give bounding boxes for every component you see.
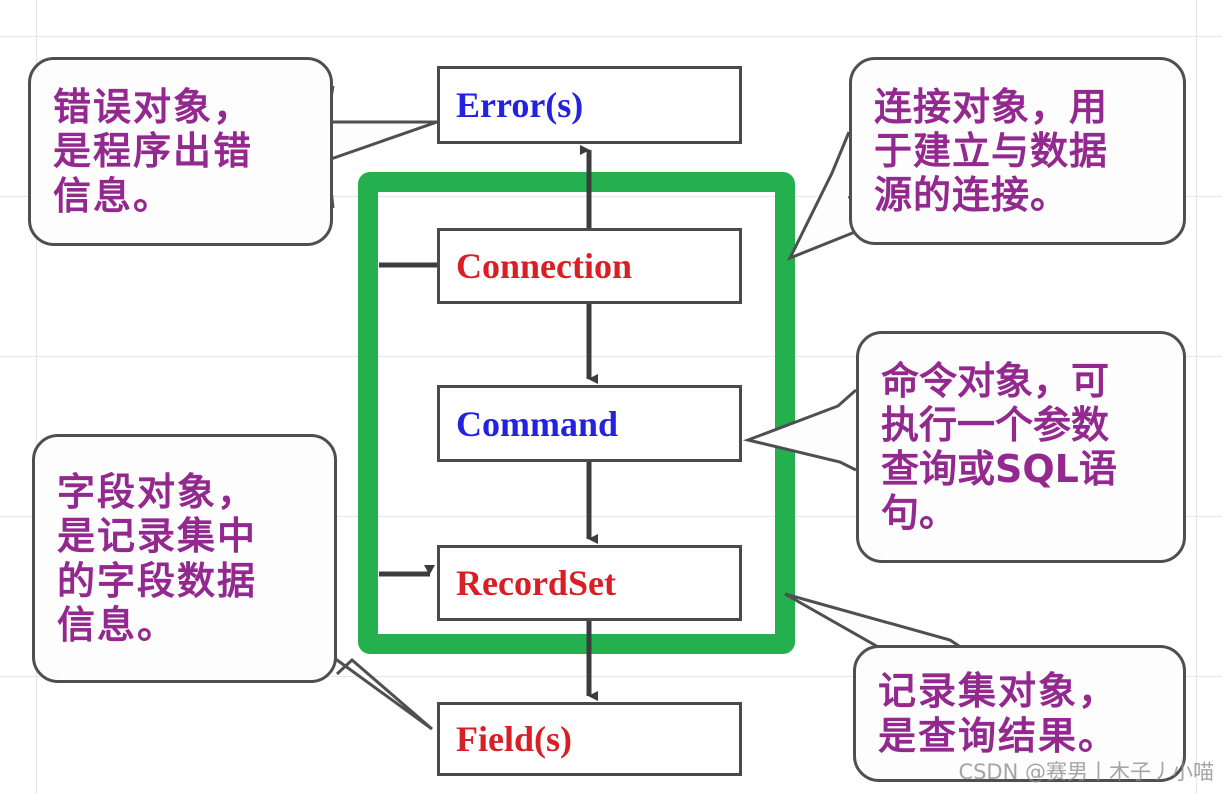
callout-connection-line-3: 源的连接。 bbox=[874, 173, 1167, 217]
callout-error[interactable]: 错误对象， 是程序出错 信息。 bbox=[28, 57, 333, 246]
callout-error-line-2: 是程序出错 bbox=[53, 129, 314, 173]
callout-command-line-1: 命令对象，可 bbox=[881, 359, 1167, 403]
callout-recordset-line-2: 是查询结果。 bbox=[878, 714, 1167, 758]
callout-field-line-1: 字段对象， bbox=[57, 470, 318, 514]
node-connection-label: Connection bbox=[440, 248, 632, 284]
node-field[interactable]: Field(s) bbox=[437, 702, 742, 776]
node-error-label: Error(s) bbox=[440, 87, 583, 123]
callout-field[interactable]: 字段对象， 是记录集中 的字段数据 信息。 bbox=[32, 434, 337, 683]
node-recordset[interactable]: RecordSet bbox=[437, 545, 742, 621]
diagram-canvas: Error(s) Connection Command RecordSet Fi… bbox=[0, 0, 1222, 794]
callout-tail-recordset bbox=[785, 594, 962, 648]
grid-line bbox=[0, 36, 1222, 37]
callout-connection-line-1: 连接对象，用 bbox=[874, 85, 1167, 129]
node-command-label: Command bbox=[440, 406, 618, 442]
node-connection[interactable]: Connection bbox=[437, 228, 742, 304]
callout-connection[interactable]: 连接对象，用 于建立与数据 源的连接。 bbox=[849, 57, 1186, 245]
callout-error-line-1: 错误对象， bbox=[53, 85, 314, 129]
node-command[interactable]: Command bbox=[437, 385, 742, 462]
callout-command-line-4: 句。 bbox=[881, 491, 1167, 535]
callout-recordset-line-1: 记录集对象， bbox=[878, 669, 1167, 713]
csdn-watermark: CSDN @赛男丨木子丿小喵 bbox=[958, 756, 1214, 786]
callout-field-line-2: 是记录集中 bbox=[57, 514, 318, 558]
callout-connection-line-2: 于建立与数据 bbox=[874, 129, 1167, 173]
callout-field-line-4: 信息。 bbox=[57, 603, 318, 647]
callout-command[interactable]: 命令对象，可 执行一个参数 查询或SQL语 句。 bbox=[856, 331, 1186, 563]
node-error[interactable]: Error(s) bbox=[437, 66, 742, 144]
callout-command-line-2: 执行一个参数 bbox=[881, 403, 1167, 447]
callout-error-line-3: 信息。 bbox=[53, 174, 314, 218]
node-recordset-label: RecordSet bbox=[440, 565, 616, 601]
grid-line bbox=[1196, 0, 1197, 794]
callout-command-line-3: 查询或SQL语 bbox=[881, 447, 1167, 491]
node-field-label: Field(s) bbox=[440, 721, 572, 757]
callout-field-line-3: 的字段数据 bbox=[57, 559, 318, 603]
